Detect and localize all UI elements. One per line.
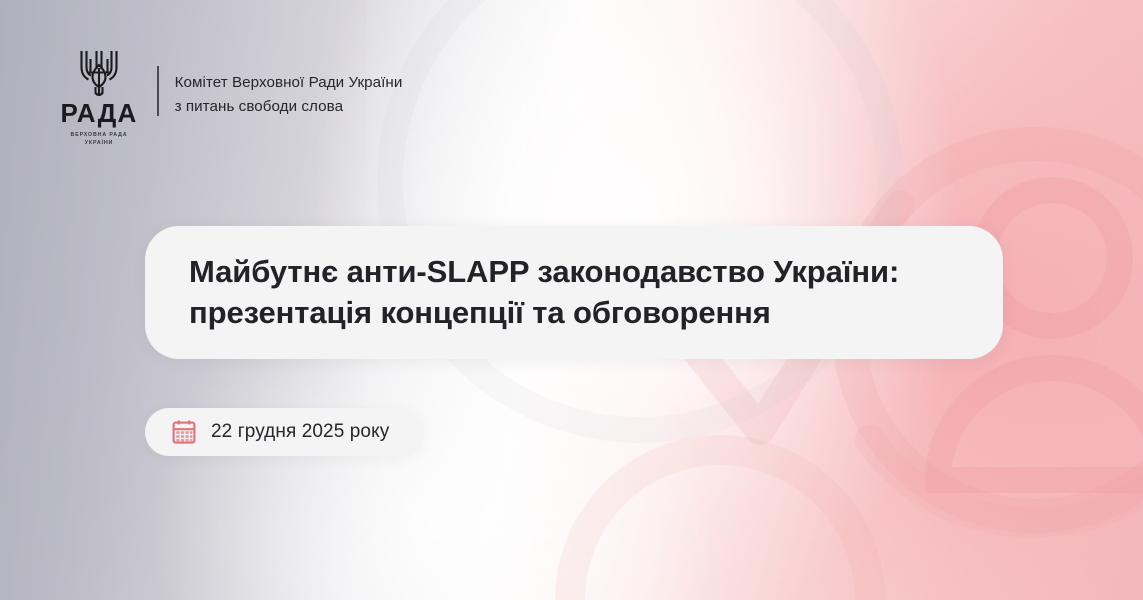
event-title-card: Майбутнє анти-SLAPP законодавство Україн… <box>145 226 1003 359</box>
committee-name-line2: з питань свободи слова <box>175 95 403 119</box>
rada-sublabel-line1: ВЕРХОВНА РАДА <box>71 131 128 139</box>
header: РАДА ВЕРХОВНА РАДА УКРАЇНИ Комітет Верхо… <box>58 48 402 147</box>
calendar-icon <box>171 419 197 445</box>
committee-name: Комітет Верховної Ради України з питань … <box>175 48 403 118</box>
page-title: Майбутнє анти-SLAPP законодавство Україн… <box>145 252 943 333</box>
ukraine-tryzub-icon <box>77 48 121 98</box>
rada-logo[interactable]: РАДА ВЕРХОВНА РАДА УКРАЇНИ <box>58 48 140 147</box>
rada-sublabel: ВЕРХОВНА РАДА УКРАЇНИ <box>71 131 128 147</box>
event-date-badge: 22 грудня 2025 року <box>145 408 423 456</box>
event-banner: РАДА ВЕРХОВНА РАДА УКРАЇНИ Комітет Верхо… <box>0 0 1143 600</box>
committee-name-line1: Комітет Верховної Ради України <box>175 71 403 95</box>
header-divider <box>157 66 159 116</box>
event-date-text: 22 грудня 2025 року <box>211 421 389 443</box>
rada-sublabel-line2: УКРАЇНИ <box>71 139 128 147</box>
rada-wordmark: РАДА <box>61 100 138 126</box>
page-title-line1: Майбутнє анти-SLAPP законодавство Україн… <box>189 252 899 292</box>
page-title-line2: презентація концепції та обговорення <box>189 293 899 333</box>
